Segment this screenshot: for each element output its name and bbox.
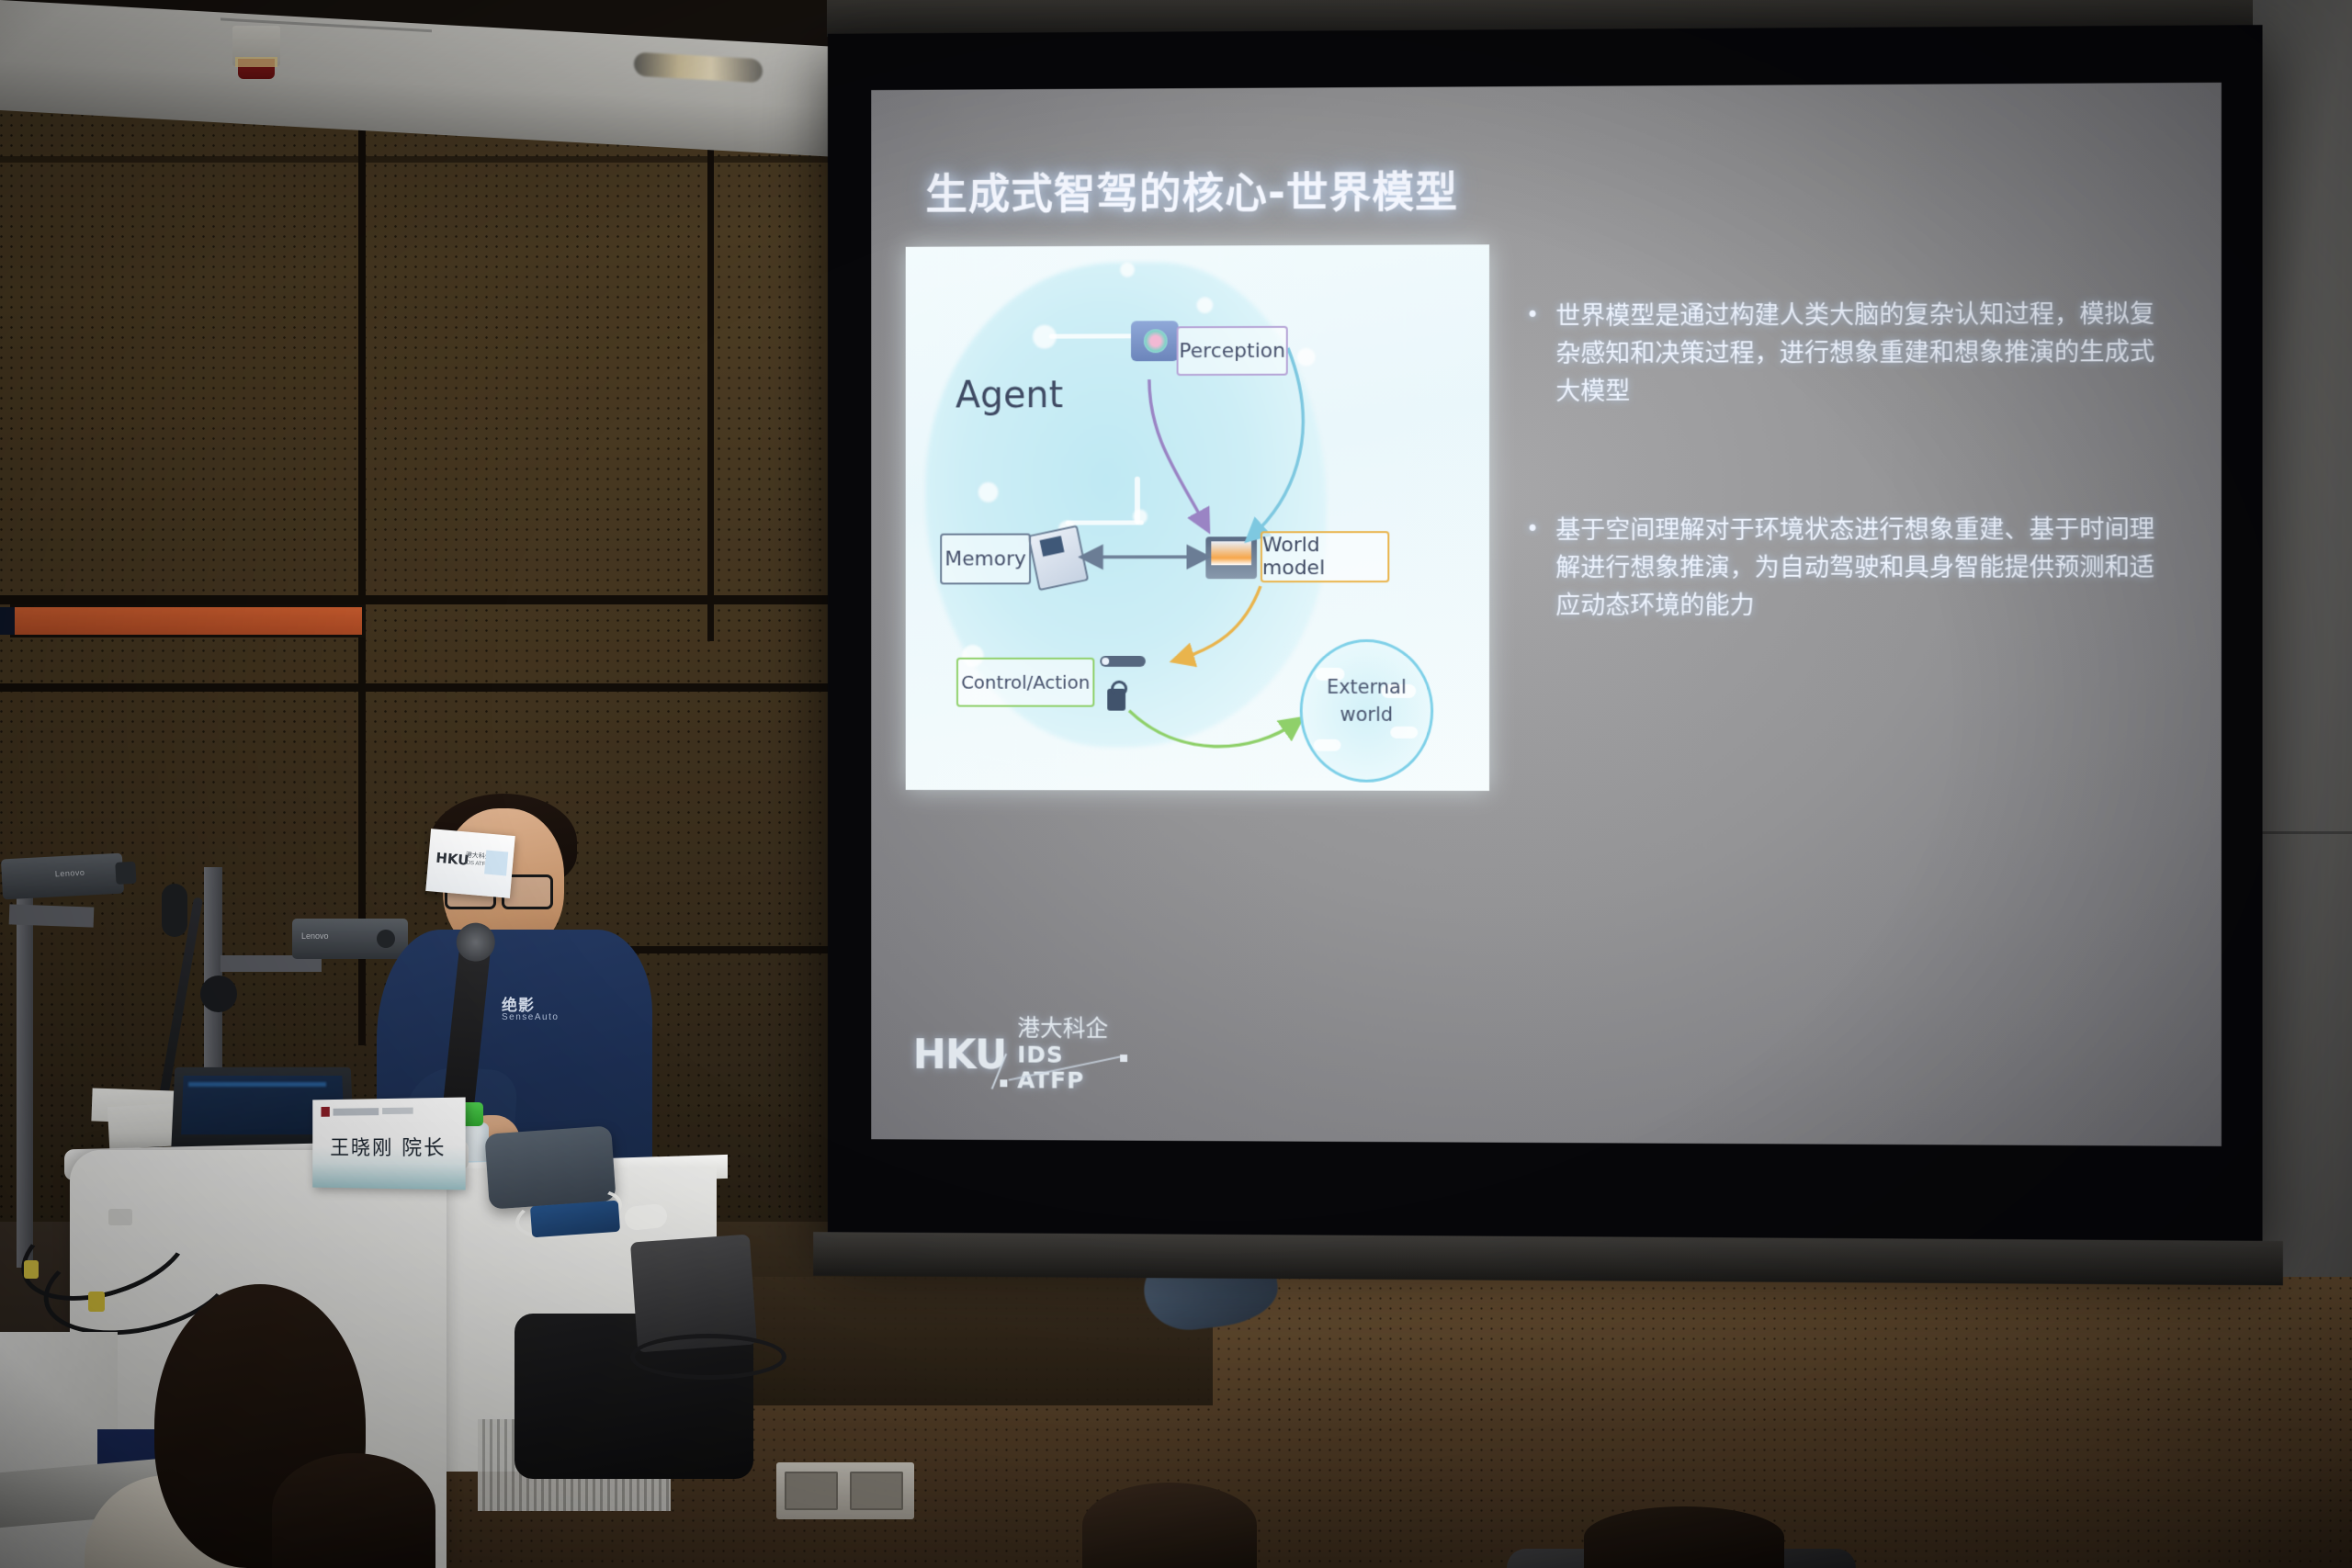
projection-screen-surface: 生成式智驾的核心-世界模型 Agent — [871, 83, 2222, 1146]
diagram-node-memory: Memory — [940, 534, 1031, 585]
audience-head — [1082, 1483, 1257, 1568]
fire-alarm-label — [235, 57, 277, 67]
hku-logo-chinese: 港大科企 — [1017, 1016, 1131, 1043]
nameplate-name: 王晓刚 院长 — [312, 1132, 465, 1162]
bullet-marker: • — [1526, 512, 1539, 625]
bullet-marker: • — [1526, 298, 1539, 411]
camera-mount-arm — [9, 904, 95, 927]
jacket-logo-english: SenseAuto — [502, 1012, 559, 1022]
diagram-node-perception: Perception — [1177, 326, 1288, 376]
smartphone — [530, 1201, 620, 1238]
audience-head — [1584, 1506, 1784, 1568]
cable-clip — [88, 1292, 105, 1312]
diagram-node-world-model: World model — [1261, 531, 1389, 582]
socket-outlet — [785, 1472, 838, 1510]
chair-base-ring — [630, 1334, 786, 1380]
nameplate-logo-row — [321, 1106, 413, 1117]
socket-outlet — [850, 1472, 903, 1510]
screenshot-root: 生成式智驾的核心-世界模型 Agent — [0, 0, 2352, 1568]
microphone-logo-flag: HKU 港大科企 IDS ATFP — [425, 829, 515, 898]
wall-seam — [358, 53, 366, 1045]
slide-bullet-1: • 世界模型是通过构建人类大脑的复杂认知过程，模拟复杂感知和决策过程，进行想象重… — [1526, 296, 2164, 411]
slide-diagram: Agent — [906, 244, 1489, 791]
nameplate-logo-mark — [321, 1107, 329, 1117]
video-camera-left: Lenovo — [1, 853, 124, 900]
orange-accent-stripe — [13, 607, 362, 635]
boom-mic-head — [162, 884, 187, 937]
cable-clip — [24, 1260, 39, 1279]
diagram-node-external-world: Externalworld — [1300, 639, 1433, 783]
slide-bullet-2: • 基于空间理解对于环境状态进行想象重建、基于时间理解进行想象推演，为自动驾驶和… — [1526, 511, 2164, 625]
presentation-slide: 生成式智驾的核心-世界模型 Agent — [871, 83, 2222, 1146]
hku-logo-text: 港大科企 IDS ATFP — [1017, 1016, 1131, 1095]
concrete-seam — [2253, 831, 2352, 834]
wall-socket-plate — [776, 1462, 914, 1519]
accent-stripe-end-cap — [0, 607, 15, 635]
camera-brand-label: Lenovo — [55, 868, 85, 879]
wall-seam — [0, 595, 854, 604]
cloud-icon — [1314, 739, 1341, 751]
concrete-column — [2253, 0, 2352, 1304]
wall-seam — [0, 683, 854, 692]
diagram-node-control-action: Control/Action — [956, 658, 1094, 707]
bullet-text: 基于空间理解对于环境状态进行想象重建、基于时间理解进行想象推演，为自动驾驶和具身… — [1555, 511, 2164, 625]
nameplate-logo-text-secondary — [382, 1108, 413, 1114]
boom-mic-pivot — [200, 976, 237, 1012]
audience-head — [272, 1453, 435, 1568]
hku-wordmark: HKU — [913, 1032, 1007, 1078]
hku-logo-english: IDS ATFP — [1017, 1042, 1131, 1095]
cable-clip — [108, 1209, 132, 1225]
nameplate: 王晓刚 院长 — [312, 1098, 465, 1190]
external-world-label: Externalworld — [1303, 673, 1430, 729]
ceiling-light — [634, 52, 763, 84]
slide-title: 生成式智驾的核心-世界模型 — [925, 158, 1458, 220]
nameplate-logo-text — [334, 1108, 379, 1116]
hku-logo-square — [1000, 1079, 1007, 1087]
projection-screen-frame: 生成式智驾的核心-世界模型 Agent — [828, 25, 2263, 1247]
slide-bullet-list: • 世界模型是通过构建人类大脑的复杂认知过程，模拟复杂感知和决策过程，进行想象重… — [1526, 296, 2164, 727]
mic-flag-blue-block — [484, 850, 508, 875]
hku-logo-square — [1120, 1055, 1127, 1062]
bullet-text: 世界模型是通过构建人类大脑的复杂认知过程，模拟复杂感知和决策过程，进行想象重建和… — [1555, 296, 2164, 411]
hku-logo: HKU 港大科企 IDS ATFP — [913, 1021, 1131, 1089]
wall-seam — [0, 156, 854, 163]
camera-brand-label: Lenovo — [301, 931, 329, 941]
laptop-screen-glow — [188, 1082, 326, 1087]
